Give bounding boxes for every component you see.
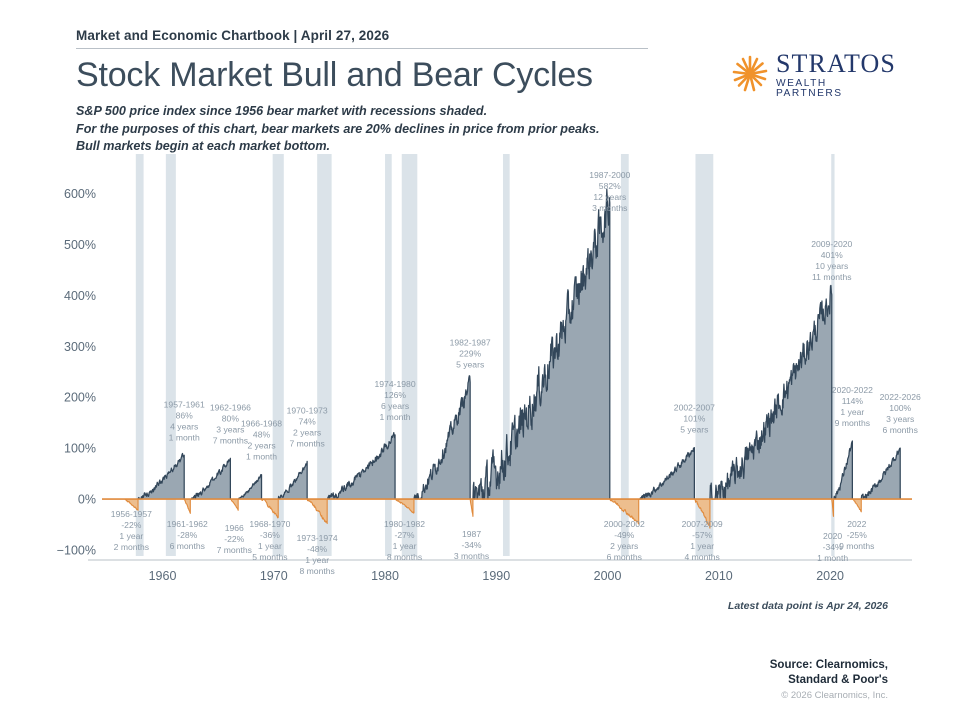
bull-market-label: 1957-196186%4 years1 month [164, 399, 205, 442]
chart-area: 600%500%400%300%200%100%0%−100% 19601970… [0, 150, 960, 580]
logo-text: STRATOS WEALTH PARTNERS [776, 51, 896, 99]
bear-market-label: 1966-22%7 months [217, 523, 252, 555]
y-axis-tick-label: 400% [64, 289, 96, 303]
bear-market-label: 1968-1970-36%1 year5 months [249, 519, 290, 562]
x-axis-tick-label: 2020 [816, 569, 844, 580]
bear-market-label: 2007-2009-57%1 year4 months [682, 519, 723, 562]
y-axis-tick-label: 600% [64, 187, 96, 201]
subtitle-line-1: S&P 500 price index since 1956 bear mark… [76, 103, 886, 121]
source-block: Source: Clearnomics, Standard & Poor's ©… [640, 658, 888, 701]
bear-market-labels: 1956-1957-22%1 year2 months1961-1962-28%… [111, 509, 875, 576]
y-axis-tick-label: −100% [57, 544, 96, 558]
x-axis-tick-label: 2010 [705, 569, 733, 580]
bull-market-label: 1987-2000582%12 years3 months [589, 170, 630, 213]
latest-data-note: Latest data point is Apr 24, 2026 [640, 600, 888, 612]
source-line-2: Standard & Poor's [640, 673, 888, 688]
x-axis-tick-label: 1960 [149, 569, 177, 580]
y-axis-tick-label: 300% [64, 340, 96, 354]
chart-subtitle: S&P 500 price index since 1956 bear mark… [76, 103, 886, 157]
bear-market-label: 2022-25%9 months [839, 519, 874, 551]
y-axis-tick-label: 100% [64, 442, 96, 456]
y-axis-tick-label: 200% [64, 391, 96, 405]
logo-tagline: WEALTH PARTNERS [776, 79, 896, 99]
copyright-notice: © 2026 Clearnomics, Inc. [640, 690, 888, 701]
bull-market-label: 2022-2026100%3 years6 months [880, 392, 921, 435]
bull-market-label: 2009-2020401%10 years11 months [811, 239, 852, 282]
y-axis-tick-label: 500% [64, 238, 96, 252]
bear-market-label: 2000-2002-49%2 years6 months [604, 519, 645, 562]
bear-market-label: 1956-1957-22%1 year2 months [111, 509, 152, 552]
x-axis-ticks: 1960197019801990200020102020 [149, 569, 844, 580]
price-series-area [125, 189, 901, 528]
y-axis-ticks: 600%500%400%300%200%100%0%−100% [57, 187, 96, 558]
x-axis-tick-label: 2000 [594, 569, 622, 580]
sunburst-icon [728, 54, 772, 99]
source-line-1: Source: Clearnomics, [640, 658, 888, 673]
bull-bear-cycles-chart: 600%500%400%300%200%100%0%−100% 19601970… [0, 150, 960, 580]
x-axis-tick-label: 1970 [260, 569, 288, 580]
x-axis-tick-label: 1980 [371, 569, 399, 580]
stratos-logo: STRATOS WEALTH PARTNERS [728, 52, 888, 96]
eyebrow-row: Market and Economic Chartbook | April 27… [76, 28, 648, 49]
chartbook-eyebrow: Market and Economic Chartbook | April 27… [76, 28, 648, 43]
logo-company-name: STRATOS [776, 51, 896, 77]
x-axis-tick-label: 1990 [482, 569, 510, 580]
y-axis-tick-label: 0% [78, 493, 96, 507]
bear-market-label: 1987-34%3 months [454, 529, 489, 561]
subtitle-line-2: For the purposes of this chart, bear mar… [76, 121, 886, 139]
bear-market-label: 1973-1974-48%1 year8 months [297, 533, 338, 576]
bull-market-label: 1982-1987229%5 years [450, 337, 491, 369]
bull-market-label: 2020-2022114%1 year9 months [832, 385, 873, 428]
